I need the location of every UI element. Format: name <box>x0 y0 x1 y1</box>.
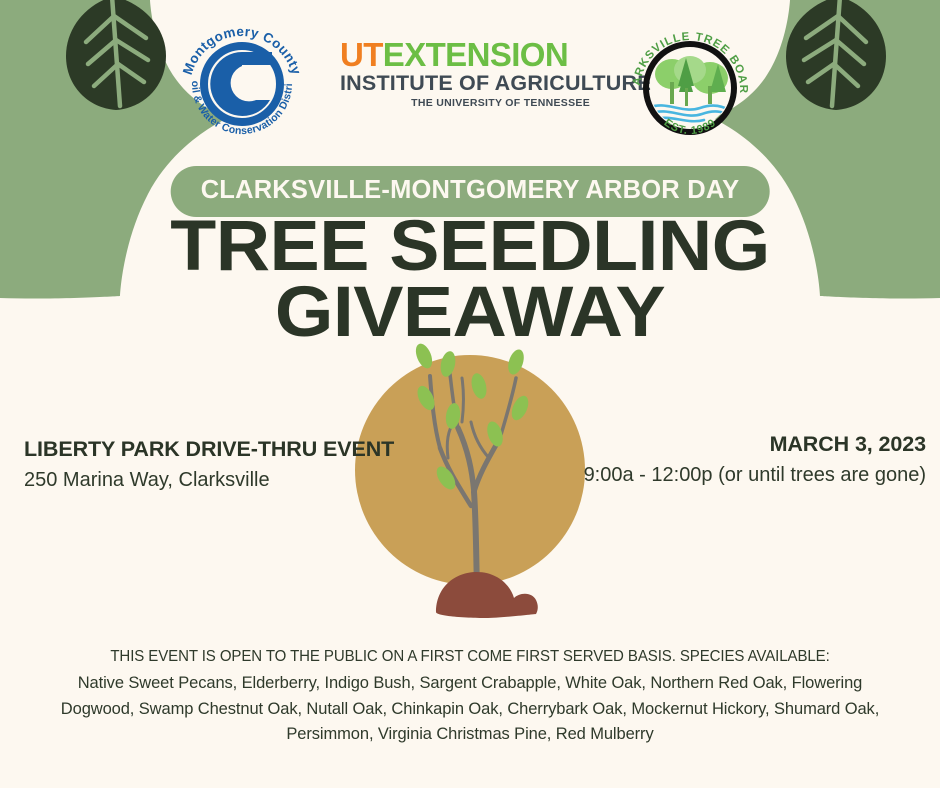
montgomery-county-soil-water-logo: Montgomery County Soil & Water Conservat… <box>178 22 306 140</box>
footer-notice: THIS EVENT IS OPEN TO THE PUBLIC ON A FI… <box>63 648 878 666</box>
clarksville-tree-board-logo: CLARKSVILLE TREE BOARD EST. 1989 <box>628 20 752 148</box>
event-location-block: LIBERTY PARK DRIVE-THRU EVENT 250 Marina… <box>24 437 394 492</box>
ut-extension-word: EXTENSION <box>383 36 568 73</box>
footer-block: THIS EVENT IS OPEN TO THE PUBLIC ON A FI… <box>50 648 890 748</box>
svg-text:Montgomery County: Montgomery County <box>180 24 304 77</box>
page-title: TREE SEEDLING GIVEAWAY <box>0 214 940 346</box>
event-time: 9:00a - 12:00p (or until trees are gone) <box>584 464 926 487</box>
footer-species-list: Native Sweet Pecans, Elderberry, Indigo … <box>50 671 890 748</box>
event-address: 250 Marina Way, Clarksville <box>24 469 394 492</box>
ut-mark: UT <box>340 36 383 73</box>
ut-institute-line: INSTITUTE OF AGRICULTURE <box>340 72 590 95</box>
event-datetime-block: MARCH 3, 2023 9:00a - 12:00p (or until t… <box>584 432 926 487</box>
poster: Montgomery County Soil & Water Conservat… <box>0 0 940 788</box>
ut-extension-logo: UTEXTENSION INSTITUTE OF AGRICULTURE THE… <box>340 38 590 109</box>
ut-extension-wordmark: UTEXTENSION <box>340 38 590 71</box>
ut-university-line: THE UNIVERSITY OF TENNESSEE <box>340 97 590 109</box>
event-date: MARCH 3, 2023 <box>584 432 926 457</box>
event-location-title: LIBERTY PARK DRIVE-THRU EVENT <box>24 437 394 462</box>
logo-row: Montgomery County Soil & Water Conservat… <box>0 0 940 150</box>
